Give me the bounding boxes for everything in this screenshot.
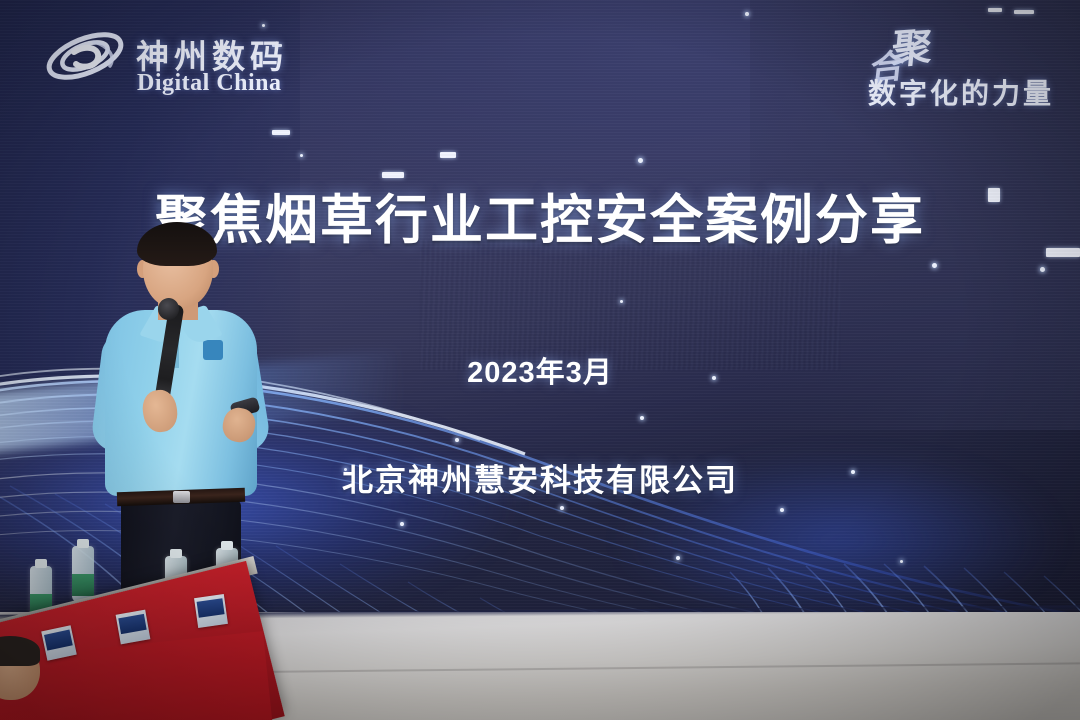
- presenter: [95, 222, 285, 622]
- bottle-label: [72, 574, 94, 596]
- name-card: [116, 610, 151, 645]
- bottle-cap: [221, 541, 233, 550]
- water-bottle: [72, 546, 94, 602]
- particle-dot: [780, 508, 784, 512]
- particle-dot: [1040, 267, 1045, 272]
- particle-dot: [932, 263, 937, 268]
- particle-dot: [676, 556, 680, 560]
- particle-dash: [272, 130, 290, 135]
- name-card-strip: [44, 630, 73, 651]
- digital-china-spiral-icon: [44, 24, 126, 88]
- digital-china-logo: 神州数码 Digital China: [44, 18, 314, 102]
- presenter-belt-buckle: [173, 491, 190, 503]
- particle-dot: [400, 522, 404, 526]
- name-card-strip: [197, 598, 225, 617]
- bottle-cap: [170, 549, 182, 558]
- name-card-strip: [118, 614, 146, 634]
- digital-china-english-name: Digital China: [137, 70, 282, 97]
- particle-dot: [900, 560, 903, 563]
- particle-dot: [620, 300, 623, 303]
- particle-dot: [640, 416, 644, 420]
- bottle-cap: [35, 559, 47, 568]
- presenter-hair: [137, 222, 217, 266]
- particle-dot: [560, 506, 564, 510]
- presenter-shirt-logo-icon: [203, 340, 223, 360]
- particle-dash: [988, 8, 1002, 12]
- particle-dot: [745, 12, 749, 16]
- conference-photo: 神州数码 Digital China 聚 合 数字化的力量 聚焦烟草行业工控安全…: [0, 0, 1080, 720]
- name-card: [194, 594, 228, 628]
- particle-dot: [455, 438, 459, 442]
- event-logo: 聚 合 数字化的力量: [800, 14, 1060, 114]
- particle-dot: [300, 154, 303, 157]
- particle-dash: [440, 152, 456, 158]
- particle-dot: [638, 158, 643, 163]
- name-card: [41, 625, 77, 661]
- event-logo-tagline: 数字化的力量: [868, 72, 1054, 112]
- bottle-cap: [77, 539, 89, 548]
